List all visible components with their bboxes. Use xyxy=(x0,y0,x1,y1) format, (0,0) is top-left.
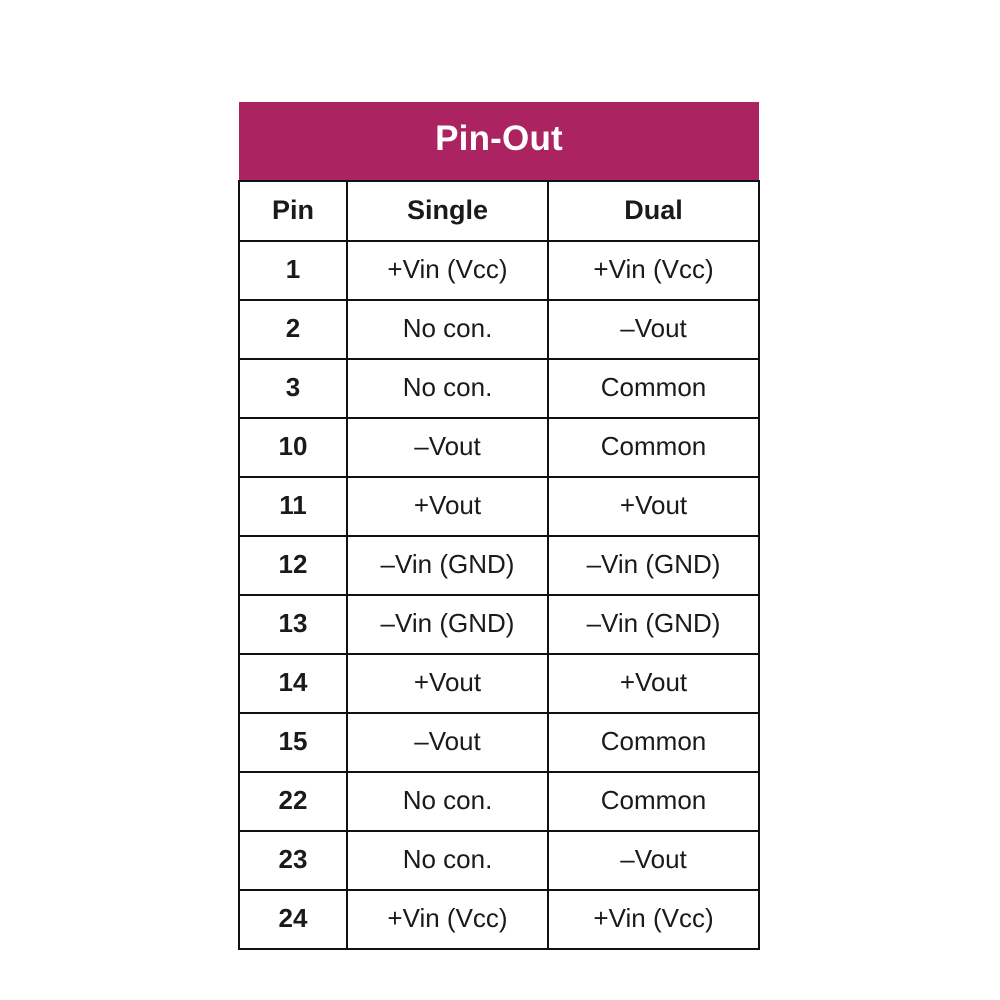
cell-single: +Vin (Vcc) xyxy=(347,241,548,300)
cell-dual: Common xyxy=(548,418,759,477)
cell-pin: 1 xyxy=(239,241,347,300)
cell-dual: Common xyxy=(548,713,759,772)
table-row: 23No con.–Vout xyxy=(239,831,759,890)
cell-single: +Vout xyxy=(347,654,548,713)
cell-dual: +Vout xyxy=(548,477,759,536)
cell-pin: 2 xyxy=(239,300,347,359)
cell-dual: –Vin (GND) xyxy=(548,595,759,654)
table-row: 22No con.Common xyxy=(239,772,759,831)
cell-pin: 14 xyxy=(239,654,347,713)
table-row: 3No con.Common xyxy=(239,359,759,418)
cell-pin: 24 xyxy=(239,890,347,949)
cell-dual: –Vout xyxy=(548,831,759,890)
cell-dual: +Vin (Vcc) xyxy=(548,241,759,300)
cell-dual: –Vout xyxy=(548,300,759,359)
cell-single: No con. xyxy=(347,359,548,418)
table-row: 10–VoutCommon xyxy=(239,418,759,477)
cell-dual: Common xyxy=(548,772,759,831)
cell-single: +Vout xyxy=(347,477,548,536)
cell-single: –Vout xyxy=(347,418,548,477)
cell-single: +Vin (Vcc) xyxy=(347,890,548,949)
cell-single: No con. xyxy=(347,831,548,890)
table-row: 12–Vin (GND)–Vin (GND) xyxy=(239,536,759,595)
column-header-pin: Pin xyxy=(239,181,347,241)
cell-dual: +Vin (Vcc) xyxy=(548,890,759,949)
cell-pin: 15 xyxy=(239,713,347,772)
table-row: 24+Vin (Vcc)+Vin (Vcc) xyxy=(239,890,759,949)
table-title-row: Pin-Out xyxy=(239,102,759,181)
cell-dual: Common xyxy=(548,359,759,418)
table-body: 1+Vin (Vcc)+Vin (Vcc)2No con.–Vout3No co… xyxy=(239,241,759,949)
cell-single: –Vout xyxy=(347,713,548,772)
cell-dual: +Vout xyxy=(548,654,759,713)
table-row: 14+Vout+Vout xyxy=(239,654,759,713)
cell-single: No con. xyxy=(347,300,548,359)
cell-pin: 13 xyxy=(239,595,347,654)
pinout-table: Pin-Out Pin Single Dual 1+Vin (Vcc)+Vin … xyxy=(238,102,760,950)
cell-pin: 23 xyxy=(239,831,347,890)
column-header-dual: Dual xyxy=(548,181,759,241)
table-title: Pin-Out xyxy=(239,102,759,181)
cell-single: –Vin (GND) xyxy=(347,595,548,654)
table-row: 15–VoutCommon xyxy=(239,713,759,772)
cell-pin: 11 xyxy=(239,477,347,536)
page-root: Pin-Out Pin Single Dual 1+Vin (Vcc)+Vin … xyxy=(0,0,1000,1000)
cell-single: –Vin (GND) xyxy=(347,536,548,595)
table-row: 13–Vin (GND)–Vin (GND) xyxy=(239,595,759,654)
cell-pin: 3 xyxy=(239,359,347,418)
table-row: 1+Vin (Vcc)+Vin (Vcc) xyxy=(239,241,759,300)
cell-pin: 12 xyxy=(239,536,347,595)
table-head: Pin-Out Pin Single Dual xyxy=(239,102,759,241)
cell-pin: 10 xyxy=(239,418,347,477)
table-column-header-row: Pin Single Dual xyxy=(239,181,759,241)
column-header-single: Single xyxy=(347,181,548,241)
cell-single: No con. xyxy=(347,772,548,831)
cell-dual: –Vin (GND) xyxy=(548,536,759,595)
cell-pin: 22 xyxy=(239,772,347,831)
table-row: 11+Vout+Vout xyxy=(239,477,759,536)
table-row: 2No con.–Vout xyxy=(239,300,759,359)
